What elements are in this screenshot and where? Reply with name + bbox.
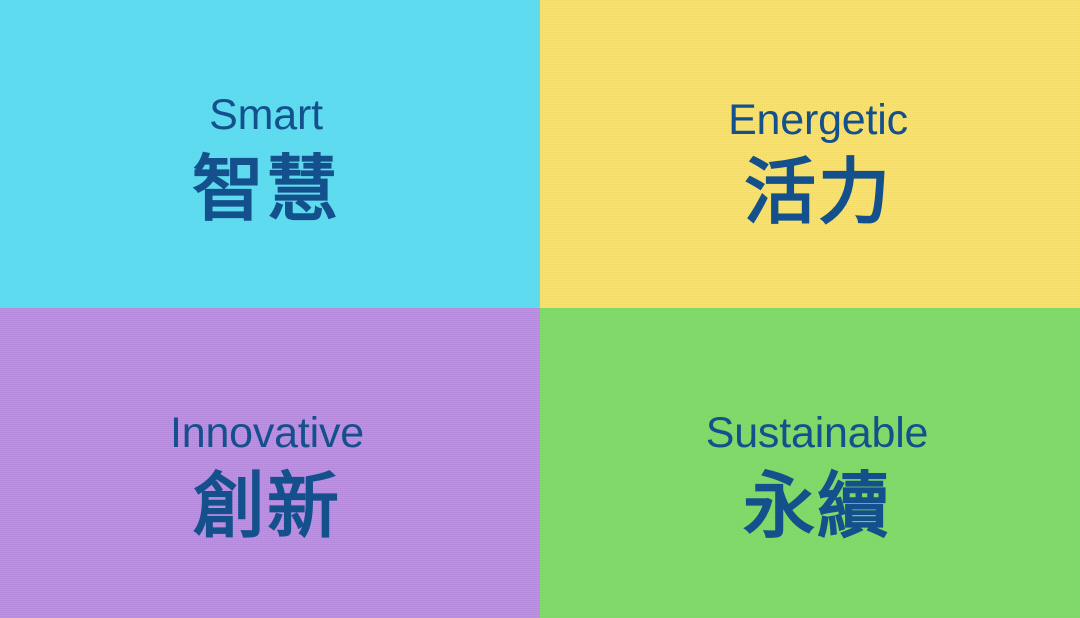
panel-sustainable-chinese-label: 永續 (743, 470, 891, 542)
panel-sustainable: Sustainable 永續 (540, 308, 1080, 618)
panel-smart-english-label: Smart (209, 94, 323, 137)
brand-values-grid: Smart 智慧 Energetic 活力 Innovative 創新 Sust… (0, 0, 1080, 618)
panel-smart: Smart 智慧 (0, 0, 540, 308)
text-stack-innovative: Innovative 創新 (170, 308, 364, 542)
panel-energetic-chinese-label: 活力 (744, 156, 892, 228)
text-stack-sustainable: Sustainable 永續 (706, 308, 929, 542)
panel-innovative-chinese-label: 創新 (193, 470, 341, 542)
text-stack-smart: Smart 智慧 (192, 0, 340, 225)
panel-energetic-english-label: Energetic (728, 99, 908, 142)
panel-smart-chinese-label: 智慧 (192, 153, 340, 225)
panel-innovative-english-label: Innovative (170, 412, 364, 455)
text-stack-energetic: Energetic 活力 (728, 0, 908, 228)
panel-innovative: Innovative 創新 (0, 308, 540, 618)
panel-energetic: Energetic 活力 (540, 0, 1080, 308)
panel-sustainable-english-label: Sustainable (706, 412, 929, 455)
